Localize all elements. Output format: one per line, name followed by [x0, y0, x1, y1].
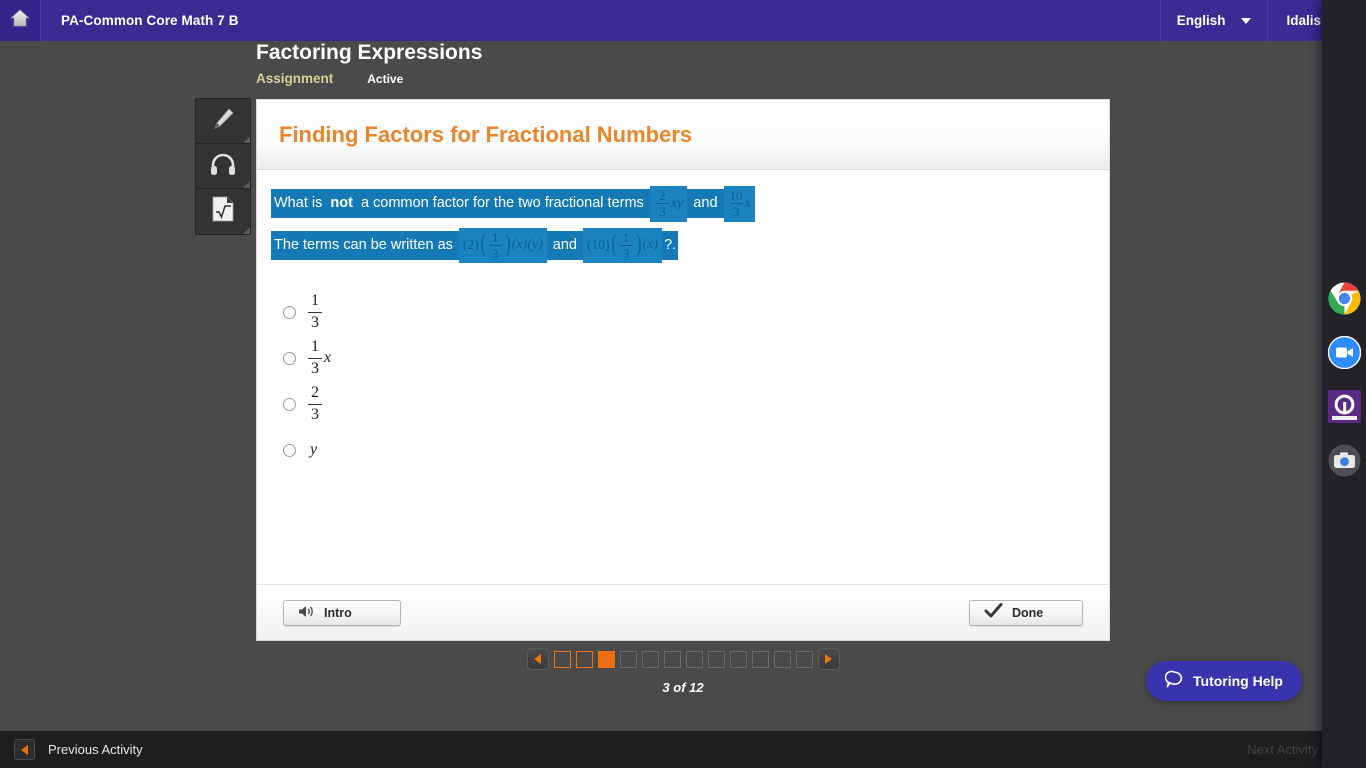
home-icon: [10, 9, 30, 32]
term-1-variables: xy: [671, 196, 683, 212]
check-icon: [984, 603, 1003, 622]
square-root-document-icon: [210, 195, 236, 228]
fraction-two-thirds: 2 3: [656, 189, 669, 219]
question-text-part-c: The terms can be written as: [271, 231, 459, 260]
status-badge: Active: [367, 72, 403, 86]
pagination-dot-1[interactable]: [554, 651, 571, 668]
math-term-2: 10 3 x: [724, 186, 755, 222]
pagination-dot-9[interactable]: [730, 651, 747, 668]
acellus-icon[interactable]: [1328, 390, 1361, 423]
math-term-1: 2 3 xy: [650, 186, 687, 222]
fraction-ten-thirds: 10 3: [730, 189, 743, 219]
answer-label-d: y: [308, 441, 317, 459]
term-2-variables: x: [745, 196, 751, 212]
math-expression-1: (2) ( 1 3 ) (x)(y): [459, 228, 547, 264]
assignment-type-label: Assignment: [256, 71, 333, 86]
question-text-end: ?.: [662, 231, 678, 260]
chrome-icon[interactable]: [1328, 282, 1361, 315]
headphones-icon: [209, 152, 237, 181]
radio-button-c[interactable]: [283, 398, 296, 411]
question-text-and-2: and: [547, 231, 583, 260]
answer-option-c[interactable]: 2 3: [283, 381, 1095, 427]
pagination-prev-button[interactable]: [527, 648, 549, 670]
right-paren-icon: ): [636, 234, 641, 256]
radio-button-a[interactable]: [283, 306, 296, 319]
page-title: Factoring Expressions: [256, 41, 482, 65]
question-line-2: The terms can be written as (2) ( 1 3 ) …: [271, 228, 1095, 264]
lesson-body: What is not a common factor for the two …: [257, 170, 1109, 473]
language-label: English: [1177, 13, 1226, 28]
triangle-left-icon: [21, 745, 28, 755]
top-navigation-bar: PA-Common Core Math 7 B English Idalis C…: [0, 0, 1366, 41]
home-button[interactable]: [0, 0, 41, 41]
triangle-right-icon: [825, 654, 832, 664]
lesson-footer: Intro Done: [257, 584, 1109, 640]
left-paren-icon: (: [611, 234, 616, 256]
expression-2-tail: (x): [643, 237, 659, 253]
pagination-dot-8[interactable]: [708, 651, 725, 668]
speech-bubble-icon: [1165, 670, 1184, 692]
pagination-dot-3[interactable]: [598, 651, 615, 668]
pagination-dot-5[interactable]: [642, 651, 659, 668]
activity-navigation-bar: Previous Activity Next Activity: [0, 731, 1366, 768]
previous-activity-label: Previous Activity: [48, 742, 143, 757]
choice-b-fraction: 1 3: [308, 339, 322, 378]
expression-2-coefficient: (10): [587, 237, 610, 253]
fraction-bar: [308, 312, 322, 313]
tool-rail: [195, 98, 251, 235]
question-text-bold-not: not: [328, 189, 355, 218]
zoom-icon[interactable]: [1328, 336, 1361, 369]
left-paren-icon: (: [480, 234, 485, 256]
pagination-dot-4[interactable]: [620, 651, 637, 668]
page-count-label: 3 of 12: [256, 680, 1110, 695]
app-root: PA-Common Core Math 7 B English Idalis C…: [0, 0, 1366, 768]
page-header: Factoring Expressions Assignment Active: [256, 41, 482, 86]
intro-button[interactable]: Intro: [283, 600, 401, 626]
question-line-1: What is not a common factor for the two …: [271, 186, 1095, 222]
fraction-bar: [308, 404, 322, 405]
speaker-icon: [298, 604, 315, 622]
lesson-header: Finding Factors for Fractional Numbers: [257, 100, 1109, 170]
pagination-dot-12[interactable]: [796, 651, 813, 668]
radio-button-d[interactable]: [283, 444, 296, 457]
highlighter-tool[interactable]: [196, 99, 250, 144]
triangle-left-icon: [534, 654, 541, 664]
math-expression-2: (10) ( 1 3 ) (x): [583, 228, 662, 264]
course-title: PA-Common Core Math 7 B: [61, 13, 239, 28]
camera-icon[interactable]: [1328, 444, 1361, 477]
expression-1-tail: (x)(y): [512, 237, 543, 253]
page-subheader: Assignment Active: [256, 71, 482, 86]
choice-a-fraction: 1 3: [308, 293, 322, 332]
fraction-one-third-b: 1 3: [620, 231, 633, 261]
answer-option-d[interactable]: y: [283, 427, 1095, 473]
fraction-one-third-a: 1 3: [489, 231, 502, 261]
answer-option-b[interactable]: 1 3 x: [283, 335, 1095, 381]
pagination-dot-2[interactable]: [576, 651, 593, 668]
language-selector[interactable]: English: [1160, 0, 1269, 41]
answer-choices: 1 3 1 3 x: [271, 289, 1095, 473]
math-tool[interactable]: [196, 189, 250, 234]
pagination-dot-11[interactable]: [774, 651, 791, 668]
audio-tool[interactable]: [196, 144, 250, 189]
right-paren-icon: ): [505, 234, 510, 256]
next-activity-label: Next Activity: [1247, 742, 1318, 757]
question-text-and-1: and: [687, 189, 723, 218]
previous-activity-icon-box: [14, 739, 35, 760]
pagination-controls: [256, 648, 1110, 670]
done-button[interactable]: Done: [969, 600, 1083, 626]
pagination-dot-10[interactable]: [752, 651, 769, 668]
answer-label-a: 1 3: [308, 293, 324, 332]
choice-c-fraction: 2 3: [308, 385, 322, 424]
answer-label-b: 1 3 x: [308, 339, 331, 378]
intro-button-label: Intro: [324, 606, 352, 620]
pagination-next-button[interactable]: [818, 648, 840, 670]
answer-label-c: 2 3: [308, 385, 324, 424]
question-text-part-b: a common factor for the two fractional t…: [355, 189, 650, 218]
lesson-title: Finding Factors for Fractional Numbers: [279, 122, 692, 148]
pencil-icon: [209, 105, 237, 138]
pagination-dot-6[interactable]: [664, 651, 681, 668]
answer-option-a[interactable]: 1 3: [283, 289, 1095, 335]
tutoring-help-label: Tutoring Help: [1193, 673, 1283, 689]
lesson-panel: Finding Factors for Fractional Numbers W…: [256, 99, 1110, 641]
tutoring-help-button[interactable]: Tutoring Help: [1146, 661, 1302, 701]
expression-1-coefficient: (2): [463, 237, 479, 253]
previous-activity-button[interactable]: Previous Activity: [14, 739, 143, 760]
question-text-part-a: What is: [271, 189, 328, 218]
radio-button-b[interactable]: [283, 352, 296, 365]
chevron-down-icon: [1241, 18, 1251, 24]
fraction-bar: [308, 358, 322, 359]
pagination-dot-7[interactable]: [686, 651, 703, 668]
app-dock: [1322, 0, 1366, 768]
done-button-label: Done: [1012, 606, 1043, 620]
